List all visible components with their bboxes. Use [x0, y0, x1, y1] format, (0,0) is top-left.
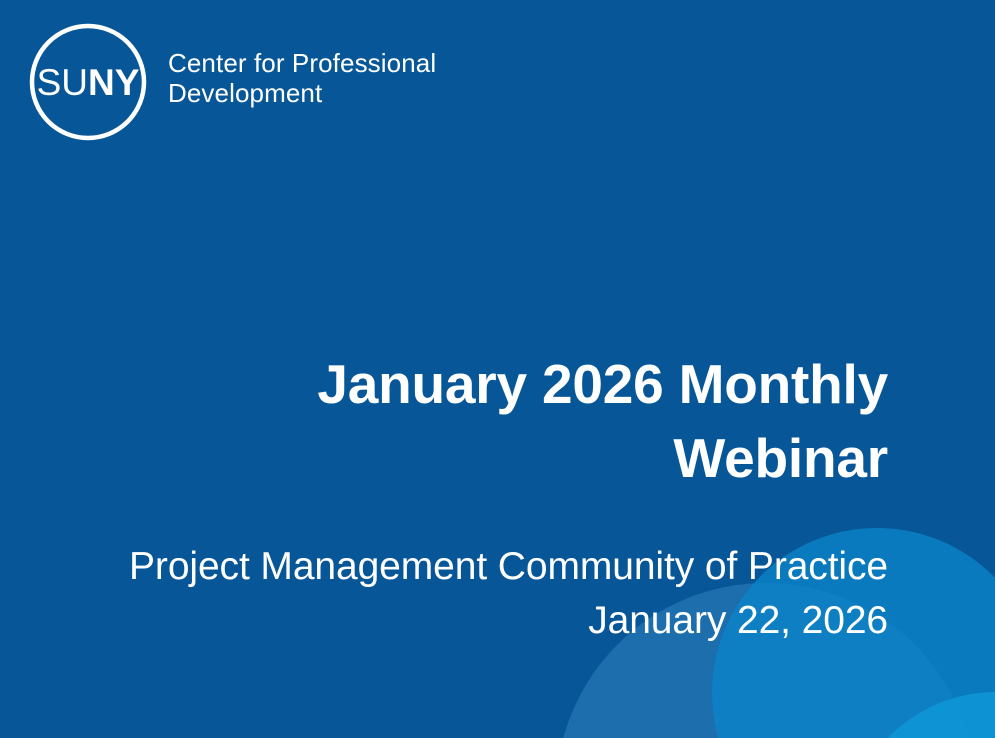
title-line-2: Webinar — [60, 422, 888, 496]
subtitle-line-2: January 22, 2026 — [60, 594, 888, 648]
page-subtitle: Project Management Community of Practice… — [60, 540, 888, 648]
decorative-circle-accent — [846, 692, 995, 738]
svg-text:SUNY: SUNY — [37, 62, 140, 103]
title-line-1: January 2026 Monthly — [60, 348, 888, 422]
logo-wordmark-line-2: Development — [168, 78, 436, 108]
suny-circle-logo-icon: SUNY — [28, 22, 148, 142]
subtitle-line-1: Project Management Community of Practice — [60, 540, 888, 594]
logo-wordmark-line-1: Center for Professional — [168, 48, 436, 78]
logo-wordmark: Center for Professional Development — [168, 48, 436, 108]
suny-logo-lockup: SUNY Center for Professional Development — [28, 22, 436, 142]
page-title: January 2026 Monthly Webinar — [60, 348, 888, 495]
title-slide: SUNY Center for Professional Development… — [0, 0, 995, 738]
